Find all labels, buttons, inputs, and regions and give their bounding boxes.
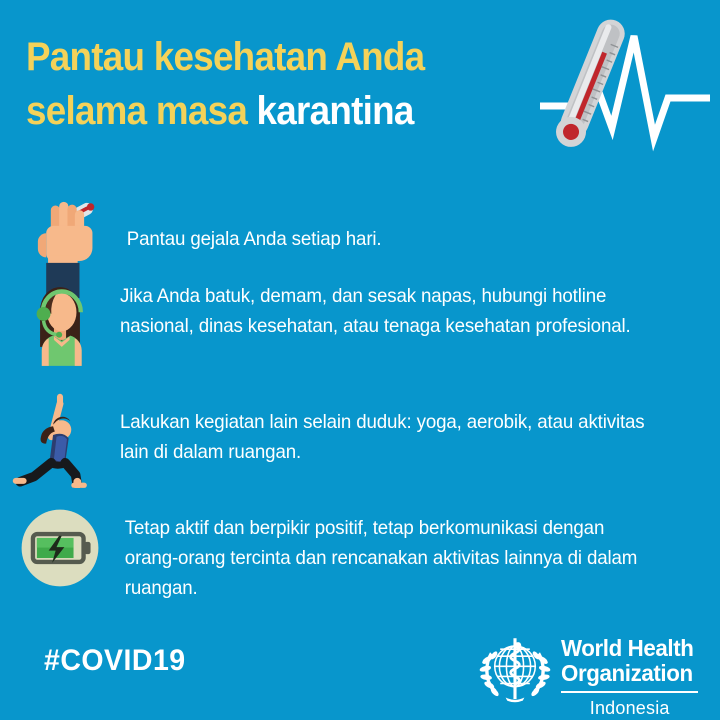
call-center-operator-icon <box>0 272 120 368</box>
list-item: Lakukan kegiatan lain selain duduk: yoga… <box>0 388 720 488</box>
list-item-label: Pantau gejala Anda setiap hari. <box>122 198 679 254</box>
who-logo: World Health Organization Indonesia <box>476 630 698 718</box>
list-item: Jika Anda batuk, demam, dan sesak napas,… <box>0 272 720 368</box>
list-item-label: Jika Anda batuk, demam, dan sesak napas,… <box>120 272 677 341</box>
title-line-2-accent: selama masa <box>26 89 257 133</box>
title-line-2-plain: karantina <box>257 89 414 133</box>
yoga-lunge-pose-icon <box>0 388 120 488</box>
list-item-label: Lakukan kegiatan lain selain duduk: yoga… <box>120 388 677 467</box>
list-item-label: Tetap aktif dan berpikir positif, tetap … <box>120 500 677 603</box>
who-name-line-2: Organization <box>561 661 694 686</box>
who-name-line-1: World Health <box>561 636 694 661</box>
title-line-2: selama masa karantina <box>26 84 504 138</box>
title-line-1: Pantau kesehatan Anda <box>26 30 504 84</box>
hashtag-covid19: #COVID19 <box>44 644 186 678</box>
who-wordmark: World Health Organization Indonesia <box>561 630 698 718</box>
who-emblem-icon <box>476 632 554 710</box>
thermometer-heartbeat-icon <box>534 10 714 160</box>
covid-quarantine-infographic: Pantau kesehatan Anda selama masa karant… <box>0 0 720 720</box>
who-divider <box>561 691 698 693</box>
page-title: Pantau kesehatan Anda selama masa karant… <box>26 30 546 138</box>
list-item: Tetap aktif dan berpikir positif, tetap … <box>0 500 720 603</box>
tips-list: Pantau gejala Anda setiap hari. <box>0 160 720 620</box>
footer: #COVID19 <box>0 620 720 720</box>
charging-battery-icon <box>0 500 120 596</box>
who-country-label: Indonesia <box>561 698 698 718</box>
header: Pantau kesehatan Anda selama masa karant… <box>0 0 720 160</box>
